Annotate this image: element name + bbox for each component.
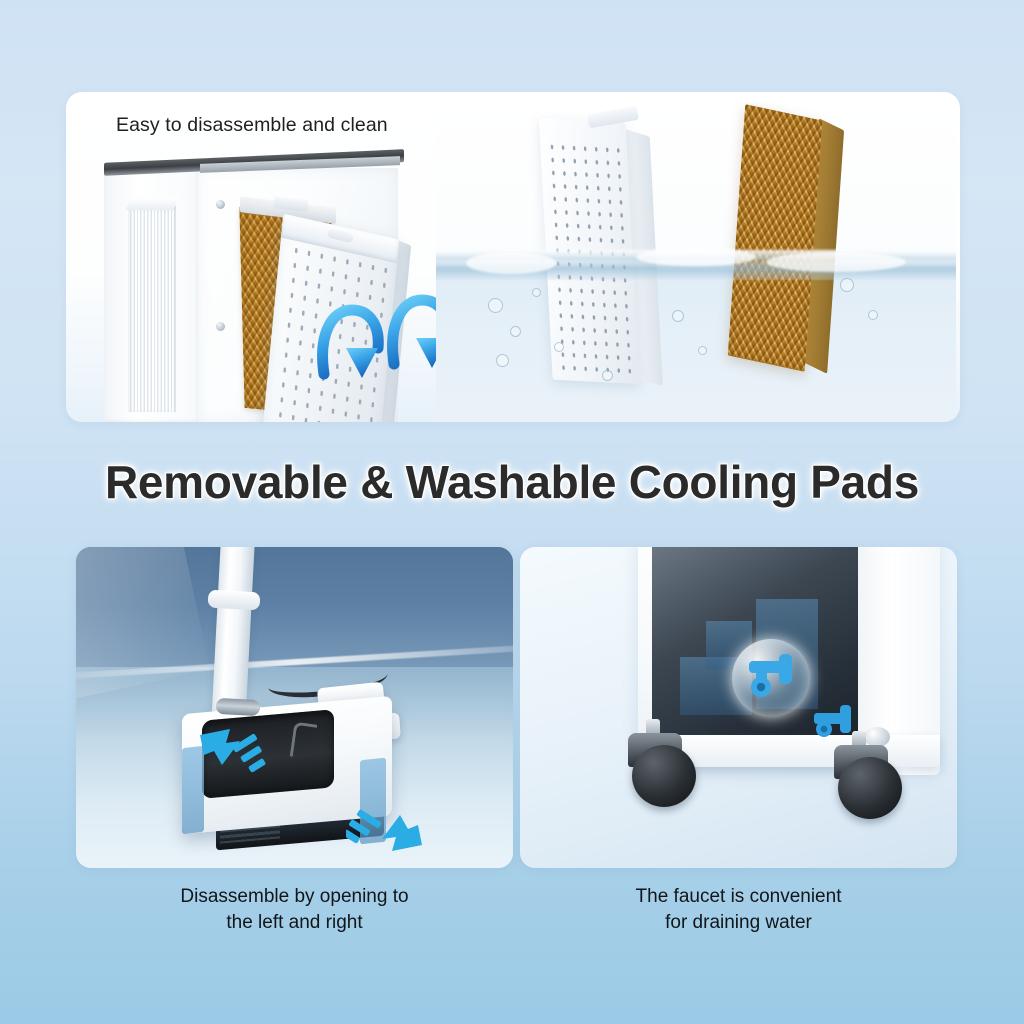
water-bubble	[510, 326, 521, 337]
water-bubble	[554, 342, 564, 352]
infographic-canvas: Easy to disassemble and clean	[0, 0, 1024, 1024]
caster-wheel	[832, 743, 910, 821]
water-bubble	[496, 354, 509, 367]
caption-line: the left and right	[76, 910, 513, 936]
water-splash	[766, 252, 906, 272]
caster-tire	[838, 757, 902, 819]
water-bubble	[532, 288, 541, 297]
caption-line: The faucet is convenient	[520, 884, 957, 910]
submerged-water-volume	[436, 270, 956, 422]
top-panel-caption: Easy to disassemble and clean	[116, 114, 388, 137]
curved-arrow-icon	[316, 304, 390, 388]
caption-line: Disassemble by opening to	[76, 884, 513, 910]
water-splash	[466, 252, 556, 274]
water-bubble	[868, 310, 878, 320]
water-bubble	[602, 370, 613, 381]
water-bubble	[840, 278, 854, 292]
air-cooler-unit-photo	[104, 154, 404, 422]
motion-arrow-icon	[196, 725, 266, 785]
bottom-left-caption: Disassemble by opening to the left and r…	[76, 884, 513, 936]
water-bubble	[488, 298, 503, 313]
cooler-louver-vent	[128, 206, 176, 412]
pipe-collar	[208, 590, 261, 611]
caption-line: for draining water	[520, 910, 957, 936]
water-wash-scene	[436, 102, 956, 422]
motion-arrow-icon	[346, 793, 426, 855]
panel-disassemble-clean: Easy to disassemble and clean	[66, 92, 960, 422]
bottom-right-caption: The faucet is convenient for draining wa…	[520, 884, 957, 936]
cooler-screw	[216, 200, 225, 209]
cooler-screw	[216, 322, 225, 331]
panel-drain-faucet	[520, 547, 957, 868]
water-splash	[636, 248, 756, 266]
pipe-metal-ring	[216, 698, 261, 716]
cooler-louver-cap	[126, 198, 179, 210]
water-bubble	[672, 310, 684, 322]
panel-pump-disassembly	[76, 547, 513, 868]
water-bubble	[698, 346, 707, 355]
caster-tire	[632, 745, 696, 807]
caster-wheel	[626, 731, 704, 809]
headline: Removable & Washable Cooling Pads	[0, 455, 1024, 509]
faucet-icon-magnified	[746, 651, 802, 707]
pump-wire-hook	[290, 722, 318, 760]
